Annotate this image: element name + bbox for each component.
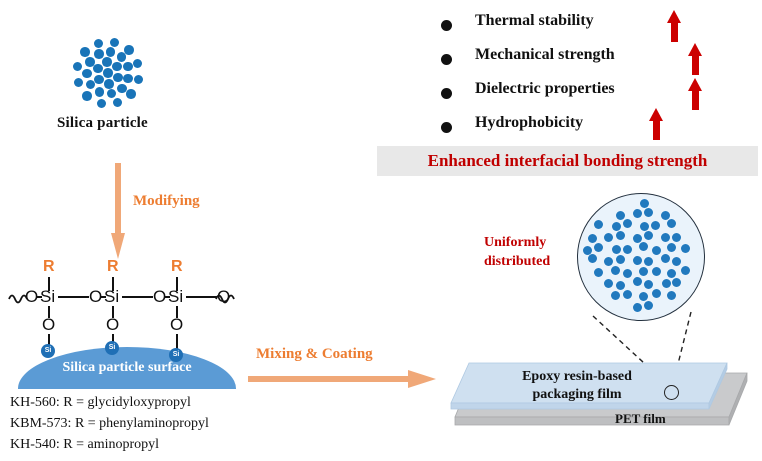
- silica-dot: [80, 47, 90, 57]
- r-group-label-2: R: [107, 258, 119, 276]
- dispersed-silica-dot: [661, 233, 670, 242]
- backbone-atom-si-3: Si: [168, 287, 183, 307]
- dispersed-silica-dot: [588, 254, 597, 263]
- property-label-mechanical-strength: Mechanical strength: [475, 46, 615, 64]
- r-group-label-3: R: [171, 258, 183, 276]
- legend-item-kbm573: KBM-573: R = phenylaminopropyl: [10, 413, 209, 434]
- dispersed-silica-dot: [612, 222, 621, 231]
- silica-dot: [86, 80, 96, 90]
- dispersed-silica-dot: [612, 245, 621, 254]
- dispersed-silica-dot: [644, 231, 653, 240]
- dispersed-silica-dot: [616, 231, 625, 240]
- dispersed-silica-dot: [662, 279, 671, 288]
- dispersed-silica-dot: [623, 269, 632, 278]
- dispersed-silica-dot: [594, 243, 603, 252]
- dispersed-silica-dot: [651, 221, 660, 230]
- dispersed-silica-dot: [640, 199, 649, 208]
- silica-dot: [82, 69, 92, 79]
- up-trend-arrow-icon-mechanical-strength: [688, 43, 703, 75]
- silica-particle-caption: Silica particle: [57, 115, 148, 132]
- dispersed-silica-dot: [623, 290, 632, 299]
- si-node-2: Si: [105, 341, 119, 355]
- dispersed-silica-dot: [604, 279, 613, 288]
- dispersed-silica-dot: [611, 291, 620, 300]
- pendant-oxygen-3: O: [170, 315, 183, 335]
- up-trend-arrow-icon-hydrophobicity: [649, 108, 664, 140]
- dispersed-silica-dot: [652, 246, 661, 255]
- silica-dot: [102, 57, 112, 67]
- silica-dot: [94, 49, 104, 59]
- property-improvement-list: Thermal stability Mechanical strength Di…: [441, 12, 661, 148]
- bullet-dot-icon: [441, 20, 452, 31]
- pendant-oxygen-1: O: [42, 315, 55, 335]
- dispersed-silica-dot: [611, 266, 620, 275]
- pendant-oxygen-2: O: [106, 315, 119, 335]
- dispersed-silica-dot: [616, 281, 625, 290]
- dispersed-silica-dot: [667, 219, 676, 228]
- silica-dot: [123, 74, 133, 84]
- backbone-atom-si-1: Si: [40, 287, 55, 307]
- dispersed-silica-dot: [672, 278, 681, 287]
- mixing-coating-arrow-icon: [248, 370, 438, 388]
- dispersed-silica-dot: [652, 267, 661, 276]
- dispersed-silica-dot: [672, 257, 681, 266]
- dispersed-silica-dot: [644, 257, 653, 266]
- banner-text: Enhanced interfacial bonding strength: [377, 146, 758, 176]
- silica-dot: [94, 75, 104, 85]
- uniform-label-line-2: distributed: [484, 252, 550, 271]
- silica-dot: [106, 47, 116, 57]
- silica-dot: [104, 79, 114, 89]
- dispersed-silica-dot: [639, 242, 648, 251]
- backbone-atom-o-4: O: [217, 287, 230, 307]
- dispersed-silica-dot: [594, 220, 603, 229]
- list-item: Dielectric properties: [441, 80, 661, 114]
- silica-dot: [103, 68, 113, 78]
- silica-dot: [94, 39, 104, 49]
- property-label-hydrophobicity: Hydrophobicity: [475, 114, 583, 132]
- dispersed-silica-dot: [681, 266, 690, 275]
- dispersed-silica-dot: [616, 255, 625, 264]
- legend-item-kh540: KH-540: R = aminopropyl: [10, 434, 209, 455]
- silica-dot: [85, 57, 95, 67]
- silica-dot: [93, 64, 103, 74]
- silica-dot: [133, 59, 143, 69]
- dispersed-silica-dot: [616, 211, 625, 220]
- property-label-dielectric-properties: Dielectric properties: [475, 80, 615, 98]
- coupling-agent-legend: KH-560: R = glycidyloxypropyl KBM-573: R…: [10, 392, 209, 455]
- dispersed-silica-dot: [639, 267, 648, 276]
- dispersed-silica-dot: [640, 222, 649, 231]
- dispersed-silica-dot: [667, 269, 676, 278]
- dispersed-silica-dot: [633, 277, 642, 286]
- dispersed-silica-dot: [672, 233, 681, 242]
- dispersed-silica-dot: [594, 268, 603, 277]
- silica-dot: [82, 91, 92, 101]
- epoxy-label-line-2: packaging film: [487, 386, 667, 404]
- bullet-dot-icon: [441, 88, 452, 99]
- modifying-arrow-label: Modifying: [133, 193, 200, 210]
- silica-particle-cluster: [63, 32, 153, 114]
- dispersed-silica-dot: [633, 256, 642, 265]
- modifying-arrow-icon: [111, 163, 125, 259]
- dispersed-silica-dot: [623, 219, 632, 228]
- mixing-coating-label: Mixing & Coating: [256, 346, 373, 363]
- dispersed-silica-dot: [633, 209, 642, 218]
- dispersed-silica-dot: [681, 244, 690, 253]
- silica-dot: [124, 45, 134, 55]
- silica-dot: [107, 89, 117, 99]
- bullet-dot-icon: [441, 122, 452, 133]
- dispersed-silica-dot: [667, 243, 676, 252]
- epoxy-label-line-1: Epoxy resin-based: [487, 368, 667, 386]
- dispersed-silica-dot: [644, 208, 653, 217]
- silica-dot: [123, 62, 133, 72]
- up-trend-arrow-icon-thermal-stability: [667, 10, 682, 42]
- dispersed-silica-dot: [667, 291, 676, 300]
- uniformly-distributed-label: Uniformly distributed: [484, 233, 550, 271]
- list-item: Mechanical strength: [441, 46, 661, 80]
- pet-film-label: PET film: [615, 411, 666, 427]
- silica-dot: [73, 62, 83, 72]
- r-group-label-1: R: [43, 258, 55, 276]
- uniform-label-line-1: Uniformly: [484, 233, 550, 252]
- siloxane-chain-diagram: R R R O Si O Si O Si O O O O: [8, 258, 238, 358]
- silica-dot: [95, 87, 105, 97]
- enhanced-bonding-banner: Enhanced interfacial bonding strength: [377, 146, 758, 176]
- dispersed-silica-dot: [661, 254, 670, 263]
- legend-item-kh560: KH-560: R = glycidyloxypropyl: [10, 392, 209, 413]
- backbone-atom-si-2: Si: [104, 287, 119, 307]
- up-trend-arrow-icon-dielectric-properties: [688, 78, 703, 110]
- property-label-thermal-stability: Thermal stability: [475, 12, 594, 30]
- dispersed-silica-dot: [588, 234, 597, 243]
- list-item: Thermal stability: [441, 12, 661, 46]
- dispersed-silica-dot: [623, 245, 632, 254]
- si-node-1: Si: [41, 344, 55, 358]
- list-item: Hydrophobicity: [441, 114, 661, 148]
- silica-dot: [110, 38, 120, 48]
- dispersed-silica-dot: [652, 289, 661, 298]
- silica-dot: [112, 62, 122, 72]
- dispersed-silica-dot: [644, 280, 653, 289]
- dispersed-silica-dot: [604, 257, 613, 266]
- silica-dot: [74, 78, 84, 88]
- dispersed-silica-dot: [604, 233, 613, 242]
- silica-dot: [134, 75, 144, 85]
- silica-dot: [113, 98, 123, 108]
- silica-surface-label: Silica particle surface: [18, 360, 236, 376]
- silica-dot: [126, 89, 136, 99]
- silica-dot: [97, 99, 107, 109]
- epoxy-film-label: Epoxy resin-based packaging film: [487, 368, 667, 404]
- silica-dot: [113, 73, 123, 83]
- bullet-dot-icon: [441, 54, 452, 65]
